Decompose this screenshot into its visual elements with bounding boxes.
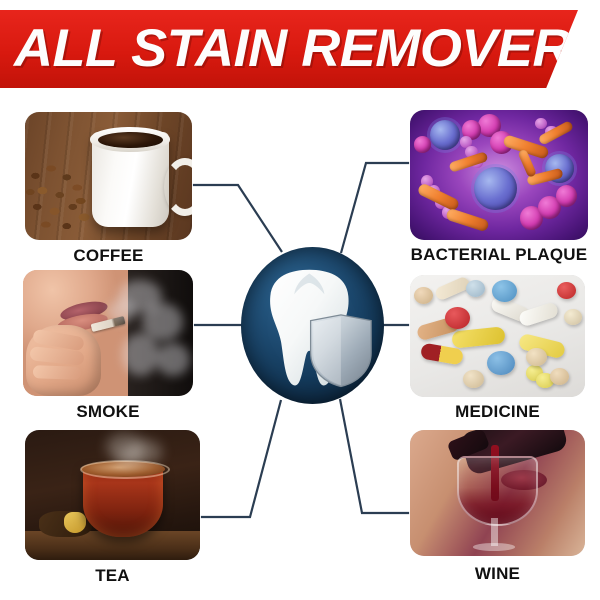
tile-bacterial-plaque[interactable] [410, 110, 588, 240]
wine-photo [410, 430, 585, 556]
tile-coffee[interactable] [25, 112, 192, 240]
infographic-canvas: ALL STAIN REMOVER [0, 0, 600, 600]
label-smoke: SMOKE [23, 402, 193, 422]
tile-smoke[interactable] [23, 270, 193, 396]
connector-plaque [341, 163, 410, 253]
shield-icon [308, 313, 374, 388]
tea-photo [25, 430, 200, 560]
tile-medicine[interactable] [410, 275, 585, 397]
label-tea: TEA [25, 566, 200, 586]
tile-tea[interactable] [25, 430, 200, 560]
medicine-photo [410, 275, 585, 397]
label-wine: WINE [410, 564, 585, 584]
center-emblem [241, 247, 384, 404]
bacterial-plaque-photo [410, 110, 588, 240]
connector-tea [200, 400, 281, 517]
label-medicine: MEDICINE [410, 402, 585, 422]
connector-coffee [192, 185, 282, 252]
label-coffee: COFFEE [25, 246, 192, 266]
label-bacterial-plaque: BACTERIAL PLAQUE [408, 245, 590, 265]
smoke-photo [23, 270, 193, 396]
tile-wine[interactable] [410, 430, 585, 556]
coffee-photo [25, 112, 192, 240]
connector-wine [340, 399, 410, 513]
